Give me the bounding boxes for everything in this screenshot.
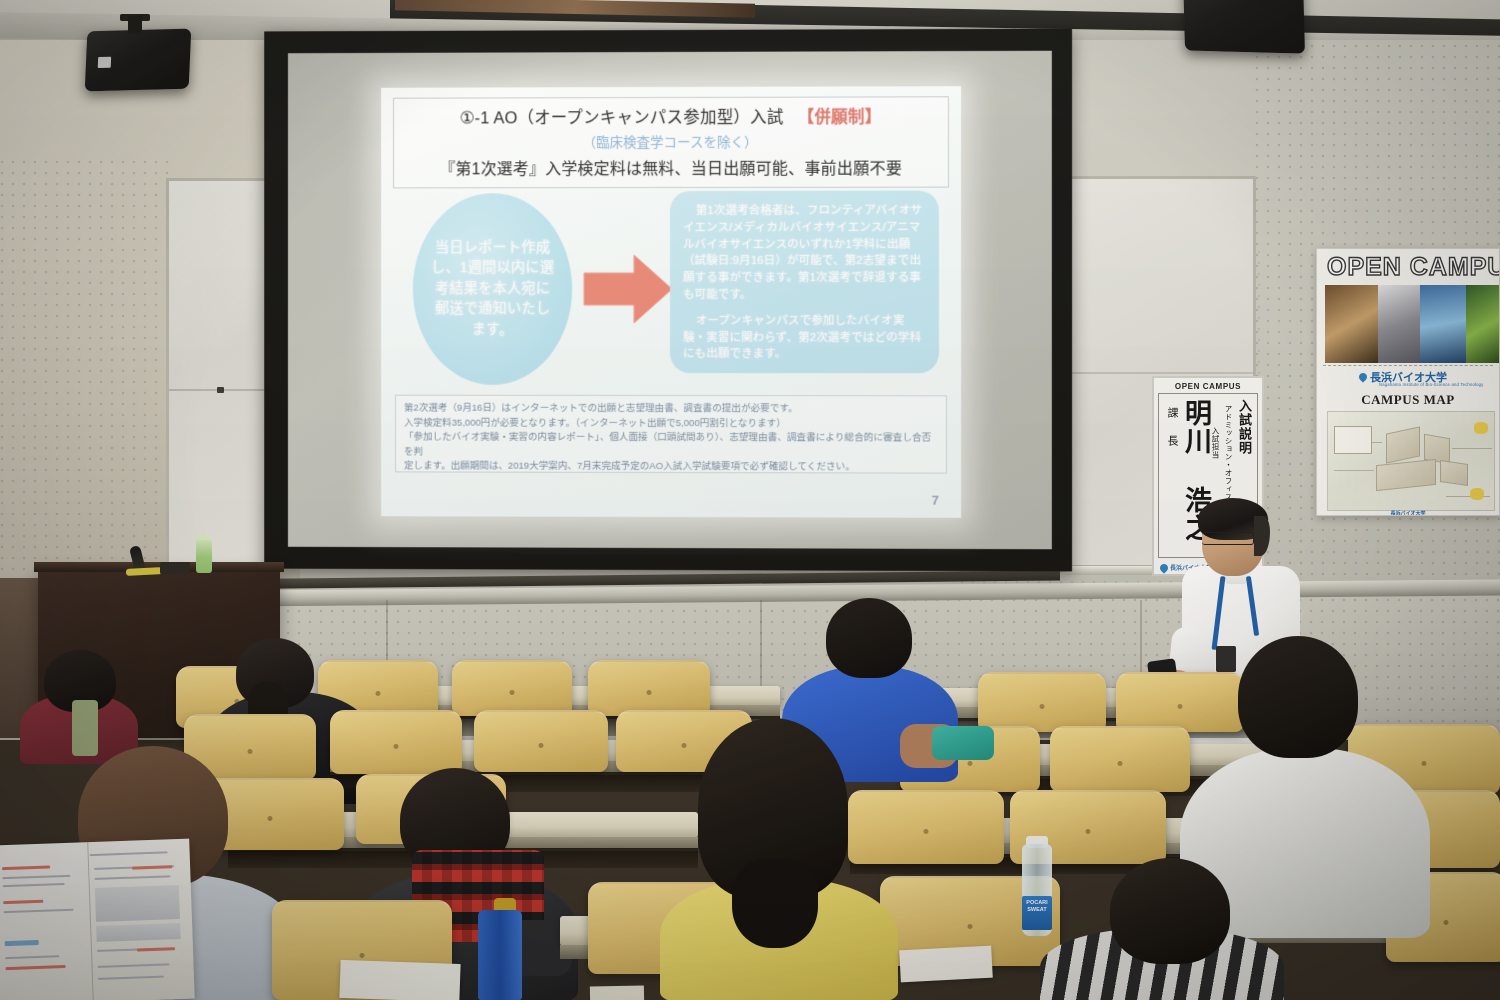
poster-photo-1 — [1325, 285, 1378, 363]
map-legend-box — [1334, 426, 1372, 454]
handout-brochure — [0, 839, 195, 1000]
map-mascot — [1470, 488, 1484, 500]
slide-oval-shape: 当日レポート作成し、1週間以内に選考結果を本人宛に郵送で通知いたします。 — [413, 193, 572, 385]
slide-body: 当日レポート作成し、1週間以内に選考結果を本人宛に郵送で通知いたします。 第1次… — [395, 191, 947, 388]
whiteboard-seam — [1066, 372, 1253, 374]
map-leader-line — [1452, 448, 1492, 449]
person-head — [1238, 636, 1358, 758]
audience-member-striped — [1040, 858, 1280, 1000]
open-campus-poster: OPEN CAMPUS 長浜バイオ大学 Nagahama Institute o… — [1316, 248, 1500, 516]
map-building — [1440, 460, 1468, 486]
slide-right-box: 第1次選考合格者は、フロンティアバイオサイエンス/メディカルバイオサイエンス/ア… — [670, 191, 939, 374]
projection-screen-frame: ①-1 AO（オープンキャンパス参加型）入試【併願制】 （臨床検査学コースを除く… — [264, 29, 1072, 572]
handout-fold — [87, 842, 94, 1000]
slide-note-line-3: 「参加したバイオ実験・実習の内容レポート」、個人面接（口頭試問あり）、志望理由書… — [404, 431, 938, 461]
map-building — [1386, 426, 1420, 463]
poster-divider — [1323, 365, 1493, 366]
seat[interactable] — [452, 660, 572, 716]
podium-bottle — [196, 540, 212, 573]
slide-title-box: ①-1 AO（オープンキャンパス参加型）入試【併願制】 （臨床検査学コースを除く… — [393, 96, 949, 188]
audience-member-yellow — [660, 718, 896, 1000]
map-building — [1376, 459, 1436, 491]
seat[interactable] — [588, 660, 710, 716]
person-hair-long — [732, 858, 818, 948]
slide-title-line2: （臨床検査学コースを除く） — [398, 130, 944, 151]
person-head — [826, 598, 912, 678]
paper-on-desk — [899, 946, 993, 983]
lecture-hall-photo: ①-1 AO（オープンキャンパス参加型）入試【併願制】 （臨床検査学コースを除く… — [0, 0, 1500, 1000]
person-head — [1110, 858, 1230, 964]
poster-campus-map — [1327, 411, 1495, 511]
podium-equipment — [160, 562, 190, 574]
acoustic-panel-left — [0, 160, 170, 590]
bag-on-desk — [932, 726, 994, 760]
slide-title-badge: 【併願制】 — [798, 108, 882, 126]
poster-map-label: CAMPUS MAP — [1317, 392, 1499, 408]
slide-note-box: 第2次選考（9月16日）はインターネットでの出願と志望理由書、調査書の提出が必要… — [395, 395, 947, 474]
slide-right-paragraph-2: オープンキャンパスで参加したバイオ実験・実習に関わらず、第2次選考ではどの学科に… — [683, 313, 926, 364]
poster-title: OPEN CAMPUS — [1327, 253, 1500, 282]
poster-photo-strip — [1325, 285, 1500, 363]
blue-tumbler — [478, 910, 522, 1000]
paper-on-desk — [590, 986, 644, 1000]
slide-note-line-1: 第2次選考（9月16日）はインターネットでの出願と志望理由書、調査書の提出が必要… — [404, 402, 938, 417]
slide-page-number: 7 — [932, 493, 939, 508]
bio-logo-icon — [1158, 562, 1169, 573]
speaker-logo-badge — [98, 57, 111, 68]
slide-right-paragraph-1: 第1次選考合格者は、フロンティアバイオサイエンス/メディカルバイオサイエンス/ア… — [683, 203, 926, 304]
map-leader-line — [1334, 470, 1374, 471]
ceiling-speaker-left — [85, 29, 192, 92]
speaker-mount-arm — [128, 16, 142, 34]
poster-photo-4 — [1466, 285, 1500, 363]
slide-note-line-2: 入学検定料35,000円が必要となります。（インターネット出願で5,000円割引… — [404, 416, 938, 431]
glasses-icon — [1202, 532, 1254, 545]
poster-photo-3 — [1420, 285, 1466, 363]
poster-footer-logo: 長浜バイオ大学 — [1317, 510, 1499, 516]
poster-logo-subtitle: Nagahama Institute of Bio-Science and Te… — [1379, 382, 1484, 387]
whiteboard-left — [166, 178, 270, 570]
slide-title-line3: 『第1次選考』入学検定料は無料、当日出願可能、事前出願不要 — [398, 154, 944, 179]
whiteboard-knob — [217, 387, 224, 393]
slide-note-line-4: 定します。出願期間は、2019大学案内、7月末完成予定のAO入試入学試験要項で必… — [404, 460, 938, 476]
seat[interactable] — [330, 710, 462, 774]
poster-photo-2 — [1378, 285, 1420, 363]
projection-screen-surface: ①-1 AO（オープンキャンパス参加型）入試【併願制】 （臨床検査学コースを除く… — [288, 51, 1052, 550]
bio-logo-icon — [1357, 371, 1368, 382]
slide-title-line1: ①-1 AO（オープンキャンパス参加型）入試【併願制】 — [398, 103, 944, 128]
presenter-hair-side — [1254, 516, 1270, 556]
ceiling-speaker-right — [1183, 0, 1305, 54]
desk-row-a — [380, 686, 780, 706]
seat[interactable] — [1050, 726, 1190, 792]
slide-oval-text: 当日レポート作成し、1週間以内に選考結果を本人宛に郵送で通知いたします。 — [430, 238, 555, 341]
sign-open-campus-header: OPEN CAMPUS — [1158, 382, 1258, 391]
map-mascot — [1474, 422, 1488, 434]
bottle-label-text: POCARI SWEAT — [1022, 900, 1052, 914]
slide-title-main: ①-1 AO（オープンキャンパス参加型）入試 — [460, 109, 784, 128]
seat[interactable] — [978, 672, 1106, 732]
projected-slide: ①-1 AO（オープンキャンパス参加型）入試【併願制】 （臨床検査学コースを除く… — [381, 86, 961, 518]
audience-member — [20, 648, 140, 758]
seat[interactable] — [474, 710, 608, 772]
right-arrow-icon — [582, 253, 674, 325]
paper-on-desk — [339, 960, 460, 1000]
